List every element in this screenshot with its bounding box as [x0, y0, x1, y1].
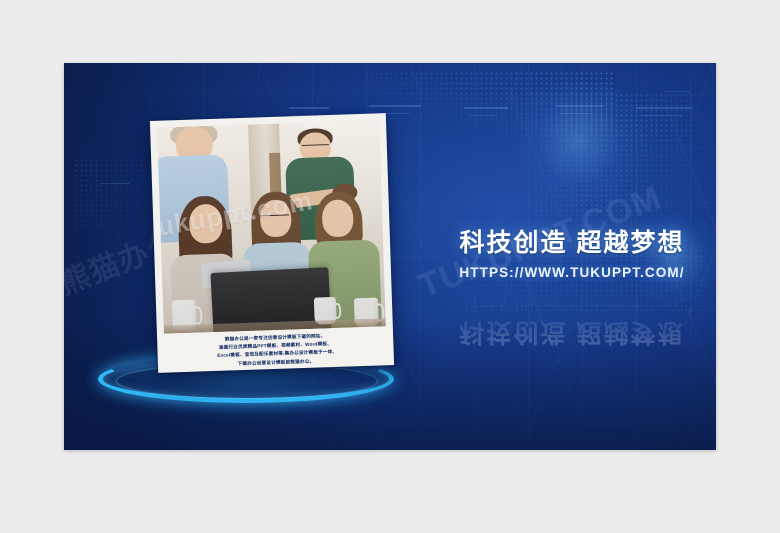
tech-bar [464, 107, 508, 109]
tech-bar [642, 115, 682, 116]
headline-text: 科技创造 超越梦想 [432, 223, 712, 259]
background-glow [504, 81, 654, 201]
url-text: HTTPS://WWW.TUKUPPT.COM/ [432, 265, 712, 280]
tech-bar [369, 105, 421, 107]
photo-scene: tukuppt.com [157, 120, 386, 333]
tech-bar [100, 183, 130, 184]
tech-bar [289, 107, 329, 109]
tech-bar [664, 91, 690, 92]
screenshot-canvas: TUKUPPT.COM 熊猫办公 科技创造 超越梦想 HTTPS://WWW.T… [0, 0, 780, 533]
headline-block: 科技创造 超越梦想 HTTPS://WWW.TUKUPPT.COM/ [432, 223, 712, 280]
photo-image: tukuppt.com [157, 120, 386, 333]
photo-card: tukuppt.com 熊猫办公是一家专注创意设计模板下载的网站， 涵盖行业优质… [150, 113, 394, 373]
tech-bar [468, 115, 498, 116]
photo-shading [157, 120, 386, 333]
tech-bar [636, 107, 692, 109]
photo-caption: 熊猫办公是一家专注创意设计模板下载的网站， 涵盖行业优质精品PPT模板、视频素材… [164, 326, 387, 370]
video-preview-frame: TUKUPPT.COM 熊猫办公 科技创造 超越梦想 HTTPS://WWW.T… [64, 63, 716, 450]
